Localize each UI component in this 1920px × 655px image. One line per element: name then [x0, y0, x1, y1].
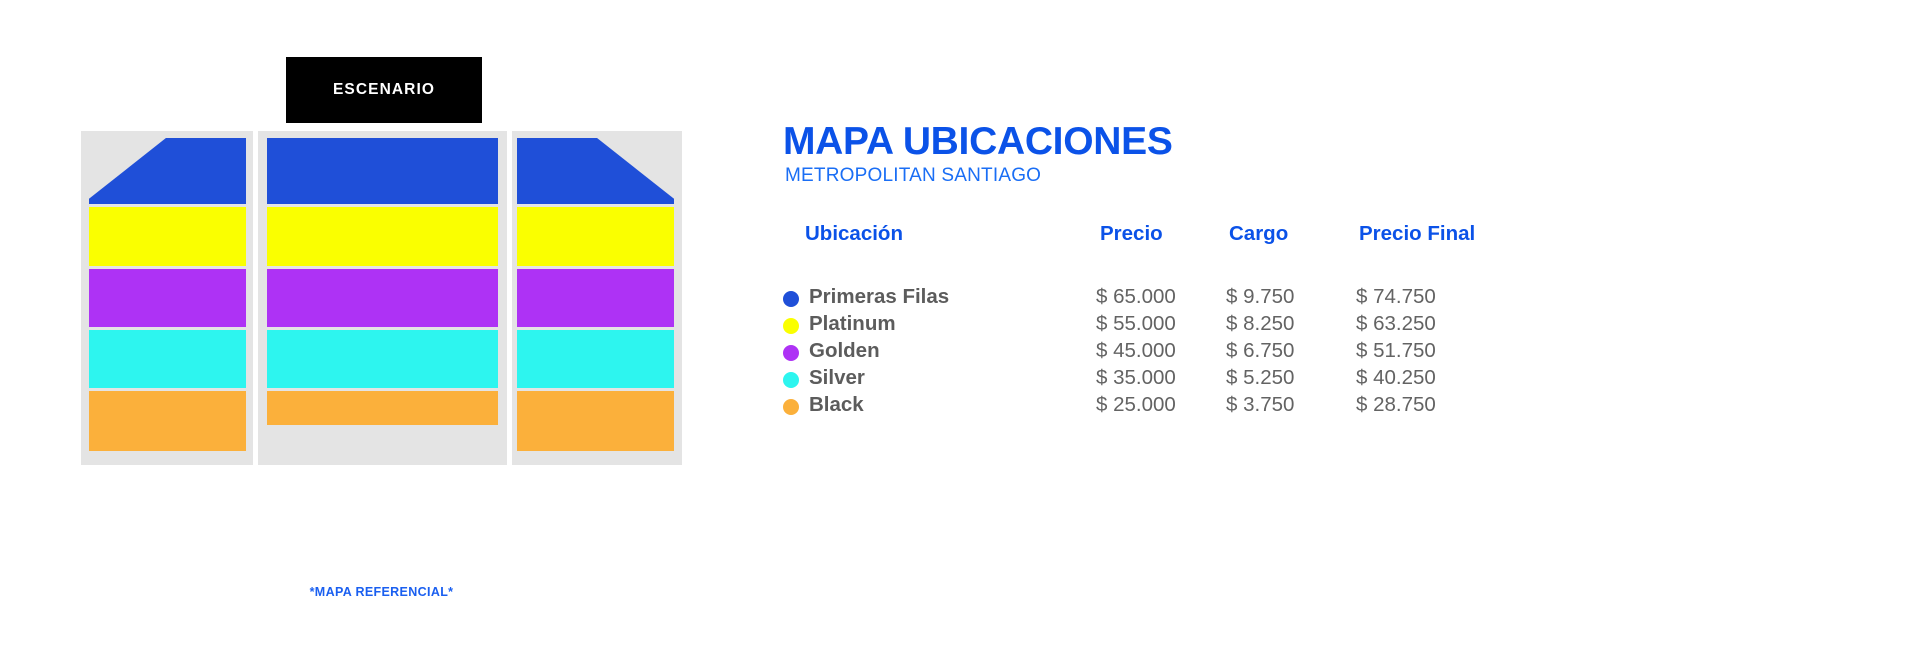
- info-panel: MAPA UBICACIONES METROPOLITAN SANTIAGO U…: [783, 0, 1920, 655]
- seat-tier-silver[interactable]: [89, 330, 246, 388]
- cell-fee: $ 6.750: [1226, 339, 1294, 363]
- seating-section-right[interactable]: [512, 131, 682, 465]
- page-title: MAPA UBICACIONES: [783, 120, 1173, 164]
- zone-name: Platinum: [809, 312, 896, 336]
- table-row[interactable]: Black$ 25.000$ 3.750$ 28.750: [783, 393, 1920, 420]
- seat-tier-golden[interactable]: [89, 269, 246, 327]
- seating-section-center[interactable]: [258, 131, 507, 465]
- cell-price: $ 65.000: [1096, 285, 1176, 309]
- cell-fee: $ 5.250: [1226, 366, 1294, 390]
- seating-section-left[interactable]: [81, 131, 253, 465]
- zone-name: Golden: [809, 339, 880, 363]
- cell-fee: $ 3.750: [1226, 393, 1294, 417]
- cell-fee: $ 9.750: [1226, 285, 1294, 309]
- seat-tier-silver[interactable]: [517, 330, 674, 388]
- cell-total: $ 74.750: [1356, 285, 1436, 309]
- seat-tier-black[interactable]: [267, 391, 498, 425]
- zone-color-dot-icon: [783, 291, 799, 307]
- cell-price: $ 35.000: [1096, 366, 1176, 390]
- column-header-fee: Cargo: [1229, 222, 1288, 246]
- seat-tier-golden[interactable]: [267, 269, 498, 327]
- cell-total: $ 40.250: [1356, 366, 1436, 390]
- zone-color-dot-icon: [783, 372, 799, 388]
- cell-total: $ 51.750: [1356, 339, 1436, 363]
- table-body: Primeras Filas$ 65.000$ 9.750$ 74.750Pla…: [783, 285, 1920, 420]
- zone-name: Silver: [809, 366, 865, 390]
- venue-seating-map: ESCENARIO *MAPA REFERENCIAL*: [0, 0, 900, 655]
- table-header-row: Ubicación Precio Cargo Precio Final: [783, 222, 1920, 262]
- seat-tier-platinum[interactable]: [89, 207, 246, 266]
- zone-name: Black: [809, 393, 864, 417]
- seat-tier-primeras-filas[interactable]: [89, 138, 246, 204]
- zone-name: Primeras Filas: [809, 285, 949, 309]
- cell-fee: $ 8.250: [1226, 312, 1294, 336]
- price-table: Ubicación Precio Cargo Precio Final Prim…: [783, 222, 1920, 420]
- seat-tier-primeras-filas[interactable]: [267, 138, 498, 204]
- seat-tier-platinum[interactable]: [517, 207, 674, 266]
- stage-label: ESCENARIO: [333, 81, 435, 99]
- cell-price: $ 55.000: [1096, 312, 1176, 336]
- column-header-price: Precio: [1100, 222, 1163, 246]
- venue-subtitle: METROPOLITAN SANTIAGO: [785, 165, 1041, 187]
- seat-tier-platinum[interactable]: [267, 207, 498, 266]
- table-row[interactable]: Golden$ 45.000$ 6.750$ 51.750: [783, 339, 1920, 366]
- zone-color-dot-icon: [783, 318, 799, 334]
- stage-block: ESCENARIO: [286, 57, 482, 123]
- zone-color-dot-icon: [783, 399, 799, 415]
- table-row[interactable]: Silver$ 35.000$ 5.250$ 40.250: [783, 366, 1920, 393]
- seat-tier-silver[interactable]: [267, 330, 498, 388]
- seat-tier-golden[interactable]: [517, 269, 674, 327]
- cell-price: $ 25.000: [1096, 393, 1176, 417]
- cell-total: $ 28.750: [1356, 393, 1436, 417]
- table-row[interactable]: Platinum$ 55.000$ 8.250$ 63.250: [783, 312, 1920, 339]
- seat-tier-primeras-filas[interactable]: [517, 138, 674, 204]
- table-row[interactable]: Primeras Filas$ 65.000$ 9.750$ 74.750: [783, 285, 1920, 312]
- seat-tier-black[interactable]: [517, 391, 674, 451]
- column-header-zone: Ubicación: [805, 222, 903, 246]
- map-footnote: *MAPA REFERENCIAL*: [81, 585, 682, 599]
- zone-color-dot-icon: [783, 345, 799, 361]
- cell-price: $ 45.000: [1096, 339, 1176, 363]
- column-header-total: Precio Final: [1359, 222, 1475, 246]
- seat-tier-black[interactable]: [89, 391, 246, 451]
- cell-total: $ 63.250: [1356, 312, 1436, 336]
